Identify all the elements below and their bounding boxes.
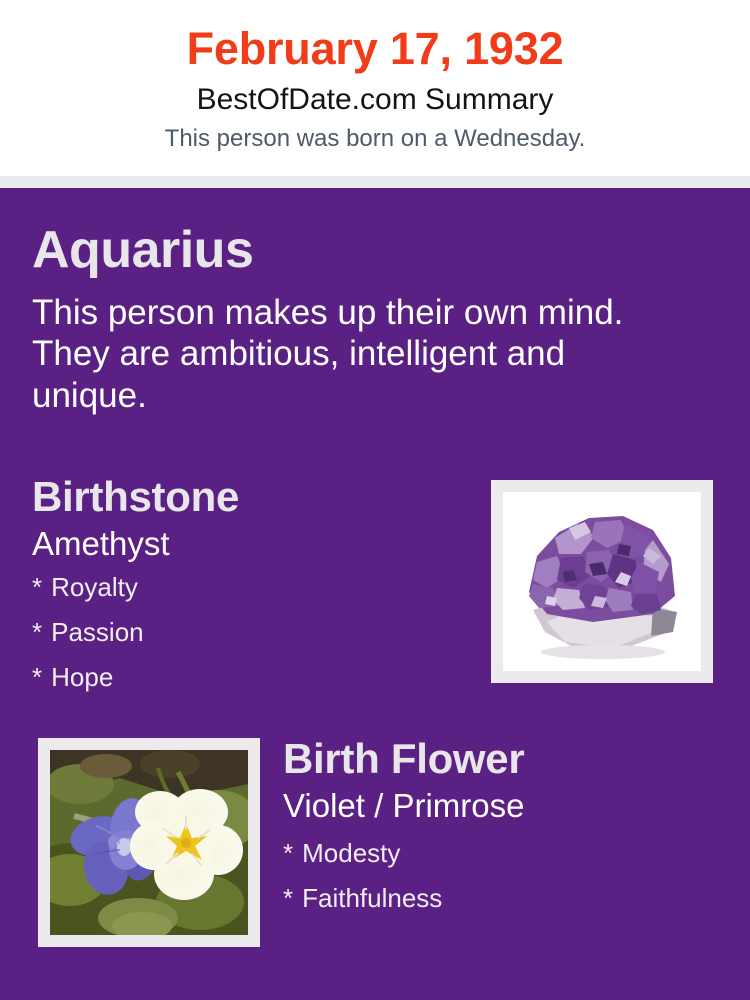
- birthflower-trait-list: *Modesty *Faithfulness: [283, 822, 733, 930]
- bullet-star-icon: *: [32, 662, 51, 692]
- amethyst-image: [503, 492, 701, 671]
- birthflower-name: Violet / Primrose: [283, 780, 733, 822]
- violet-primrose-flower-icon: [50, 750, 248, 935]
- birthstone-trait-list: *Royalty *Passion *Hope: [32, 560, 472, 709]
- birth-weekday-note: This person was born on a Wednesday.: [0, 115, 750, 151]
- birthstone-photo-frame: [491, 480, 713, 683]
- header-divider: [0, 176, 750, 188]
- list-item: *Passion: [32, 619, 472, 664]
- birthstone-name: Amethyst: [32, 518, 472, 560]
- trait-label: Faithfulness: [302, 883, 442, 913]
- birthflower-section: Birth Flower Violet / Primrose *Modesty …: [283, 738, 733, 930]
- birthstone-photo: [503, 492, 701, 671]
- trait-label: Passion: [51, 617, 144, 647]
- site-name-subtitle: BestOfDate.com Summary: [0, 71, 750, 115]
- birthstone-section: Birthstone Amethyst *Royalty *Passion *H…: [32, 476, 472, 709]
- bullet-star-icon: *: [283, 883, 302, 913]
- zodiac-sign-name: Aquarius: [32, 224, 692, 276]
- bullet-star-icon: *: [32, 572, 51, 602]
- birthstone-heading: Birthstone: [32, 476, 472, 518]
- bullet-star-icon: *: [32, 617, 51, 647]
- summary-panel: Aquarius This person makes up their own …: [0, 188, 750, 1000]
- bullet-star-icon: *: [283, 838, 302, 868]
- trait-label: Royalty: [51, 572, 138, 602]
- zodiac-section: Aquarius This person makes up their own …: [32, 224, 692, 416]
- summary-page: February 17, 1932 BestOfDate.com Summary…: [0, 0, 750, 1000]
- amethyst-crystal-icon: [503, 492, 701, 671]
- zodiac-description: This person makes up their own mind. The…: [32, 276, 680, 416]
- trait-label: Modesty: [302, 838, 400, 868]
- page-title-date: February 17, 1932: [0, 0, 750, 71]
- birthflower-photo-frame: [38, 738, 260, 947]
- birthflower-photo: [50, 750, 248, 935]
- list-item: *Royalty: [32, 574, 472, 619]
- list-item: *Modesty: [283, 840, 733, 885]
- page-header: February 17, 1932 BestOfDate.com Summary…: [0, 0, 750, 176]
- list-item: *Faithfulness: [283, 885, 733, 930]
- trait-label: Hope: [51, 662, 113, 692]
- list-item: *Hope: [32, 664, 472, 709]
- birthflower-heading: Birth Flower: [283, 738, 733, 780]
